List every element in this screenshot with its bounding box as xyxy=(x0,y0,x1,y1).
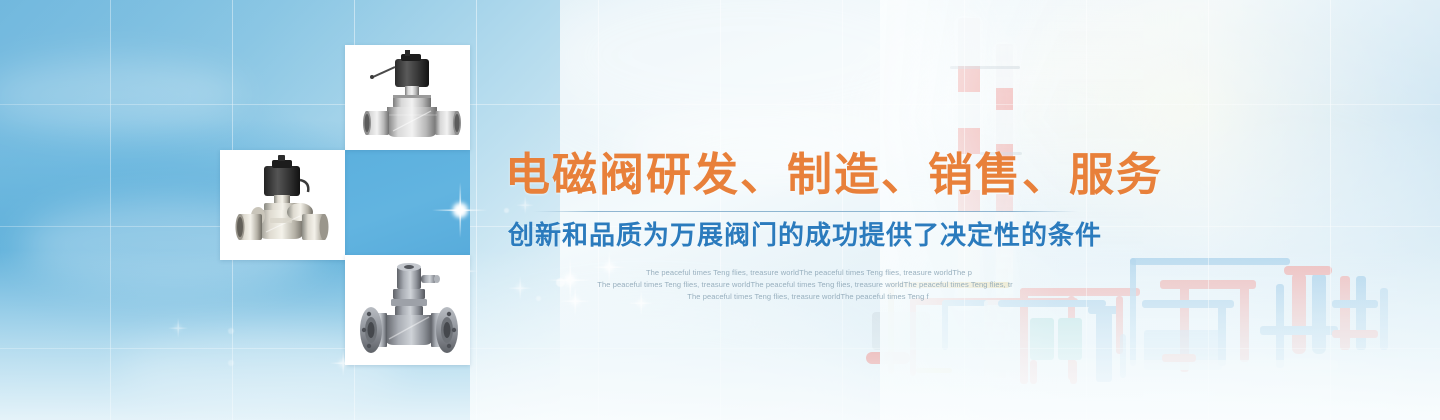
accent-tile-blue xyxy=(345,150,470,260)
product-tile-3[interactable] xyxy=(345,255,470,365)
fineprint-line-1: The peaceful times Teng flies, treasure … xyxy=(598,267,1020,279)
solenoid-valve-threaded-top-icon xyxy=(345,45,470,150)
solenoid-valve-threaded-mid-icon xyxy=(220,150,345,260)
product-tile-1[interactable] xyxy=(345,45,470,150)
page-subtitle: 创新和品质为万展阀门的成功提供了决定性的条件 xyxy=(505,221,1105,252)
fineprint-line-3: The peaceful times Teng flies, treasure … xyxy=(596,291,1020,303)
promotional-banner: 电磁阀研发、制造、销售、服务 创新和品质为万展阀门的成功提供了决定性的条件 Th… xyxy=(0,0,1440,420)
title-divider xyxy=(533,211,1078,212)
fineprint-line-2: The peaceful times Teng flies, treasure … xyxy=(565,279,1045,291)
page-title: 电磁阀研发、制造、销售、服务 xyxy=(505,150,1105,200)
banner-copy: 电磁阀研发、制造、销售、服务 创新和品质为万展阀门的成功提供了决定性的条件 Th… xyxy=(505,150,1105,303)
solenoid-valve-flanged-icon xyxy=(345,255,470,365)
product-tile-2[interactable] xyxy=(220,150,345,260)
fineprint-block: The peaceful times Teng flies, treasure … xyxy=(590,267,1020,303)
